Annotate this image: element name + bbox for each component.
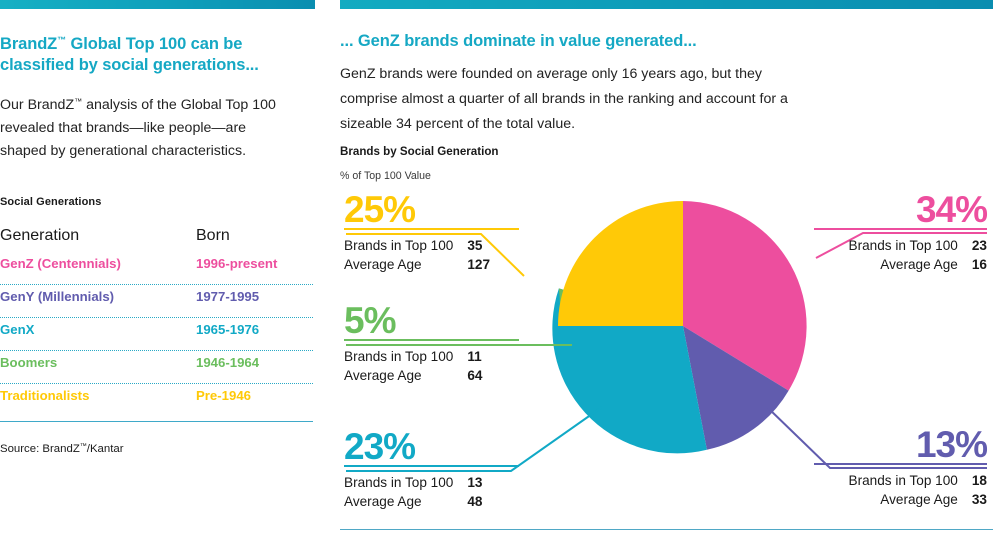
source-note: Source: BrandZ™/Kantar — [0, 443, 124, 455]
column-header-generation: Generation — [0, 227, 79, 245]
cell-generation: GenY (Millennials) — [0, 289, 114, 304]
callout-stats: Brands in Top 100 23 Average Age 16 — [849, 236, 987, 274]
callout-genx: 23% Brands in Top 100 13 Average Age 48 — [344, 429, 519, 511]
row-divider — [0, 383, 313, 384]
callout-percent: 13% — [814, 427, 987, 463]
stat-value-brands: 18 — [972, 471, 987, 490]
stat-row: Average Age 48 — [344, 492, 482, 511]
stat-label-brands: Brands in Top 100 — [344, 347, 467, 366]
stat-row: Average Age 64 — [344, 366, 482, 385]
trademark-icon: ™ — [57, 35, 66, 45]
stat-label-age: Average Age — [849, 490, 972, 509]
stat-row: Brands in Top 100 13 — [344, 473, 482, 492]
infographic-page: BrandZ™ Global Top 100 can be classified… — [0, 0, 993, 534]
cell-generation: GenX — [0, 322, 34, 337]
table-row: GenZ (Centennials) 1996-present — [0, 256, 313, 282]
callout-geny: 13% Brands in Top 100 18 Average Age 33 — [814, 427, 987, 509]
stat-value-age: 16 — [972, 255, 987, 274]
table-bottom-rule — [0, 421, 313, 422]
row-divider — [0, 317, 313, 318]
stat-row: Brands in Top 100 11 — [344, 347, 482, 366]
stat-value-brands: 23 — [972, 236, 987, 255]
callout-boomers: 5% Brands in Top 100 11 Average Age 64 — [344, 303, 519, 385]
stat-row: Average Age 127 — [344, 255, 490, 274]
stat-label-age: Average Age — [849, 255, 972, 274]
cell-born: 1977-1995 — [196, 289, 259, 304]
callout-percent: 5% — [344, 303, 519, 339]
social-generations-table: Generation Born GenZ (Centennials) 1996-… — [0, 227, 313, 422]
callout-stats: Brands in Top 100 18 Average Age 33 — [849, 471, 987, 509]
stat-value-brands: 35 — [467, 236, 490, 255]
table-row: Boomers 1946-1964 — [0, 355, 313, 381]
trademark-icon: ™ — [80, 443, 87, 450]
pie-slice-traditionalists — [558, 201, 683, 326]
stat-row: Brands in Top 100 23 — [849, 236, 987, 255]
bottom-rule — [340, 529, 993, 531]
stat-label-brands: Brands in Top 100 — [849, 236, 972, 255]
cell-born: 1946-1964 — [196, 355, 259, 370]
stat-label-age: Average Age — [344, 255, 467, 274]
cell-born: 1965-1976 — [196, 322, 259, 337]
callout-percent: 25% — [344, 192, 519, 228]
callout-traditionalists: 25% Brands in Top 100 35 Average Age 127 — [344, 192, 519, 274]
stat-row: Brands in Top 100 18 — [849, 471, 987, 490]
cell-born: 1996-present — [196, 256, 277, 271]
table-row: GenY (Millennials) 1977-1995 — [0, 289, 313, 315]
row-divider — [0, 284, 313, 285]
stat-row: Average Age 33 — [849, 490, 987, 509]
table-row: Traditionalists Pre-1946 — [0, 388, 313, 414]
cell-born: Pre-1946 — [196, 388, 251, 403]
callout-stats: Brands in Top 100 11 Average Age 64 — [344, 347, 482, 385]
cell-generation: GenZ (Centennials) — [0, 256, 121, 271]
stat-value-age: 33 — [972, 490, 987, 509]
stat-label-brands: Brands in Top 100 — [344, 236, 467, 255]
stat-row: Brands in Top 100 35 — [344, 236, 490, 255]
stat-label-brands: Brands in Top 100 — [849, 471, 972, 490]
stat-value-age: 127 — [467, 255, 490, 274]
callout-genz: 34% Brands in Top 100 23 Average Age 16 — [814, 192, 987, 274]
left-column: BrandZ™ Global Top 100 can be classified… — [0, 0, 315, 534]
stat-value-brands: 11 — [467, 347, 482, 366]
column-header-born: Born — [196, 227, 230, 245]
stat-label-age: Average Age — [344, 366, 467, 385]
source-pre: Source: BrandZ — [0, 443, 80, 455]
stat-value-age: 48 — [467, 492, 482, 511]
left-body-pre: Our BrandZ — [0, 97, 74, 113]
callout-stats: Brands in Top 100 13 Average Age 48 — [344, 473, 482, 511]
left-headline: BrandZ™ Global Top 100 can be classified… — [0, 30, 300, 76]
stat-value-age: 64 — [467, 366, 482, 385]
left-body-text: Our BrandZ™ analysis of the Global Top 1… — [0, 90, 290, 163]
cell-generation: Traditionalists — [0, 388, 89, 403]
table-row: GenX 1965-1976 — [0, 322, 313, 348]
right-column: ... GenZ brands dominate in value genera… — [340, 0, 993, 534]
social-generations-subhead: Social Generations — [0, 196, 101, 208]
callout-percent: 23% — [344, 429, 519, 465]
source-rest: /Kantar — [87, 443, 124, 455]
stat-label-brands: Brands in Top 100 — [344, 473, 467, 492]
trademark-icon: ™ — [74, 97, 82, 106]
callout-percent: 34% — [814, 192, 987, 228]
callout-stats: Brands in Top 100 35 Average Age 127 — [344, 236, 490, 274]
cell-generation: Boomers — [0, 355, 57, 370]
left-headline-brand: BrandZ — [0, 35, 57, 53]
table-header-row: Generation Born — [0, 227, 313, 256]
row-divider — [0, 350, 313, 351]
stat-label-age: Average Age — [344, 492, 467, 511]
stat-row: Average Age 16 — [849, 255, 987, 274]
stat-value-brands: 13 — [467, 473, 482, 492]
